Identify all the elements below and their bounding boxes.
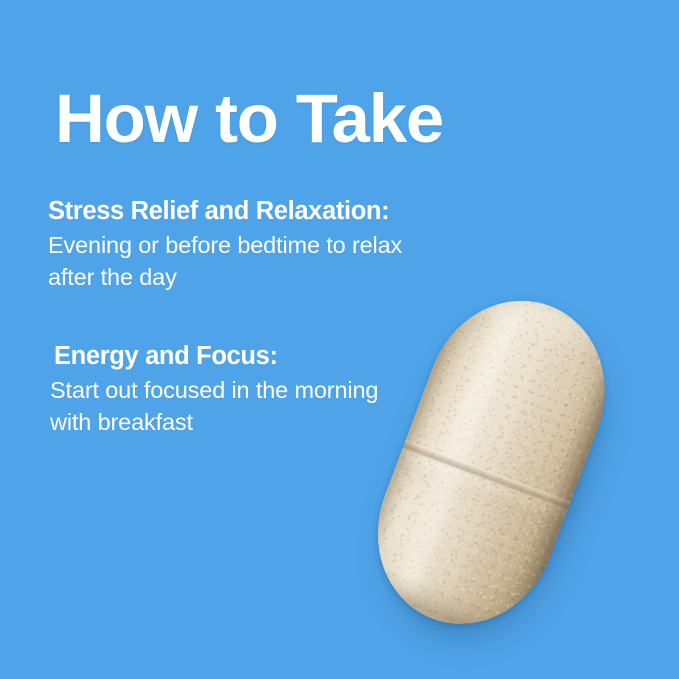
body-line: with breakfast	[50, 407, 540, 439]
body-line: Start out focused in the morning	[50, 375, 540, 407]
body-line: after the day	[48, 262, 540, 294]
how-to-take-poster: How to Take Stress Relief and Relaxation…	[0, 0, 679, 679]
section-body-stress-relief: Evening or before bedtime to relax after…	[0, 230, 540, 294]
section-heading-energy-focus: Energy and Focus:	[0, 341, 540, 371]
text-column: How to Take Stress Relief and Relaxation…	[0, 0, 540, 679]
section-body-energy-focus: Start out focused in the morning with br…	[0, 375, 540, 439]
page-title: How to Take	[55, 84, 443, 153]
section-stress-relief: Stress Relief and Relaxation: Evening or…	[0, 196, 540, 294]
section-heading-stress-relief: Stress Relief and Relaxation:	[0, 196, 540, 226]
section-energy-focus: Energy and Focus: Start out focused in t…	[0, 341, 540, 439]
body-line: Evening or before bedtime to relax	[48, 230, 540, 262]
